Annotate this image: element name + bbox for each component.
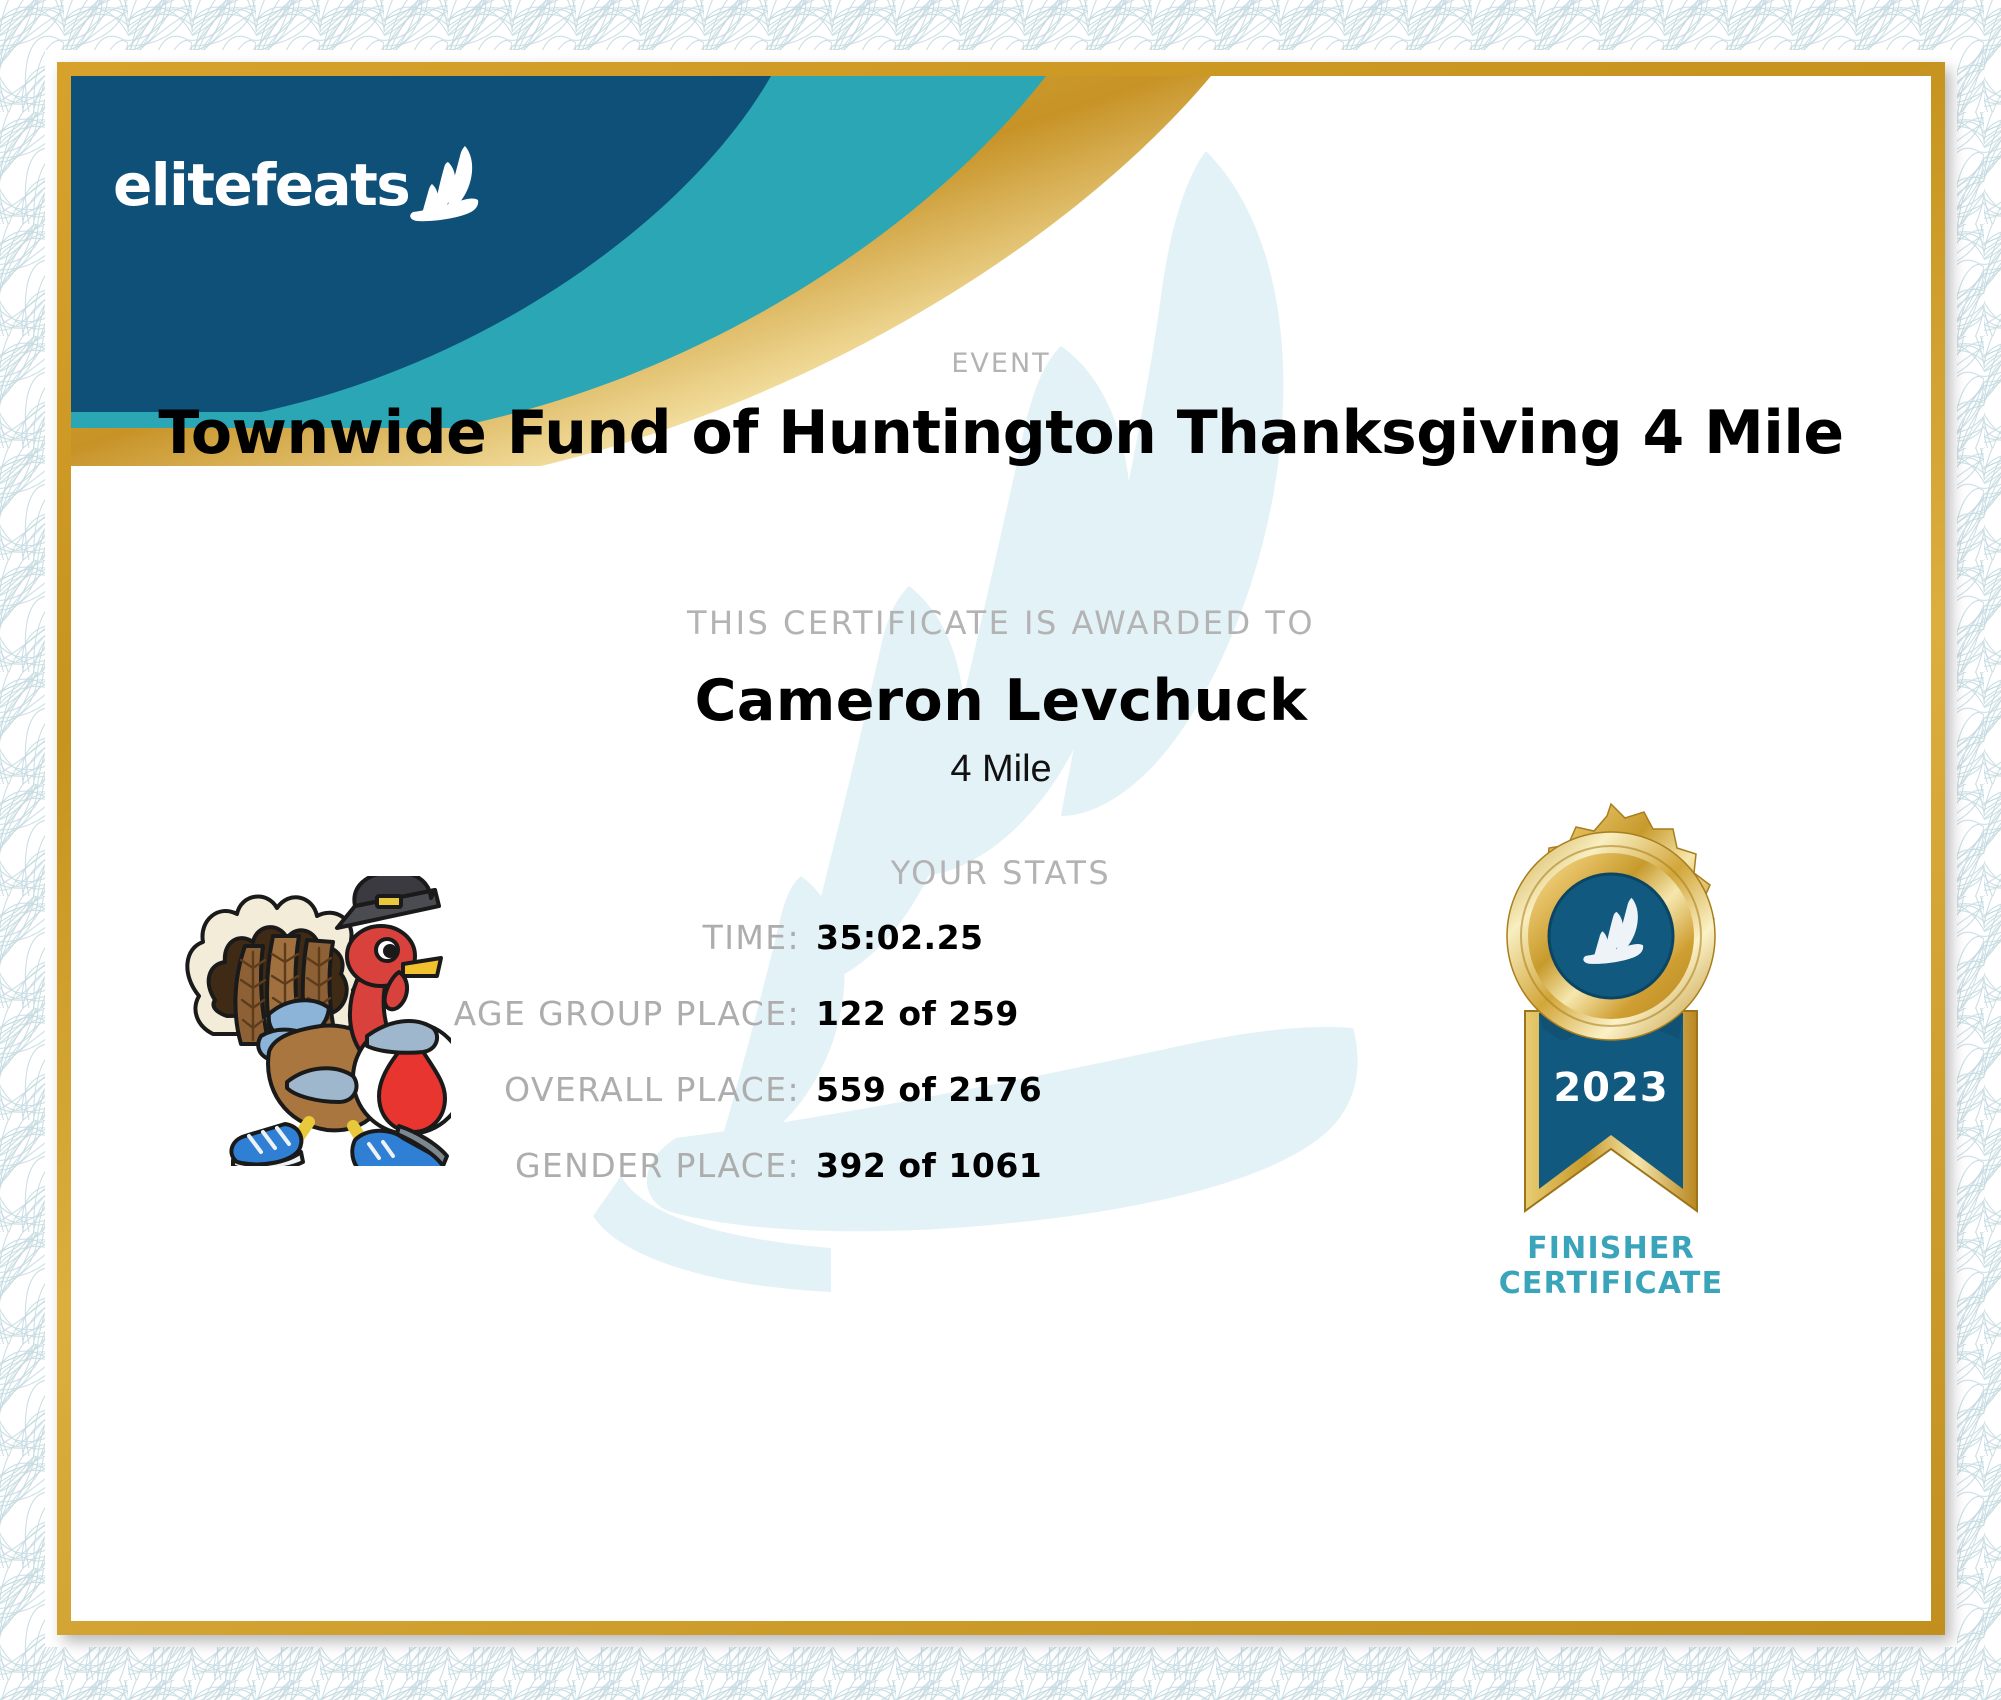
event-label: EVENT bbox=[71, 348, 1931, 379]
badge-caption-line-2: CERTIFICATE bbox=[1431, 1266, 1791, 1301]
stat-label: OVERALL PLACE: bbox=[431, 1070, 800, 1109]
event-title: Townwide Fund of Huntington Thanksgiving… bbox=[71, 398, 1931, 468]
stat-value: 392 of 1061 bbox=[800, 1146, 1051, 1185]
stat-label: AGE GROUP PLACE: bbox=[431, 994, 800, 1033]
stat-row-overall-place: OVERALL PLACE: 559 of 2176 bbox=[431, 1070, 1051, 1146]
stat-row-time: TIME: 35:02.25 bbox=[431, 918, 1051, 994]
awarded-to-label: THIS CERTIFICATE IS AWARDED TO bbox=[71, 604, 1931, 642]
badge-caption: FINISHER CERTIFICATE bbox=[1431, 1231, 1791, 1302]
stat-row-gender-place: GENDER PLACE: 392 of 1061 bbox=[431, 1146, 1051, 1222]
stat-value: 559 of 2176 bbox=[800, 1070, 1051, 1109]
participant-division: 4 Mile bbox=[71, 748, 1931, 791]
stat-value: 35:02.25 bbox=[800, 918, 1051, 957]
stat-row-age-group-place: AGE GROUP PLACE: 122 of 259 bbox=[431, 994, 1051, 1070]
running-turkey-mascot-icon bbox=[141, 876, 451, 1166]
stats-list: TIME: 35:02.25 AGE GROUP PLACE: 122 of 2… bbox=[431, 918, 1051, 1222]
badge-caption-line-1: FINISHER bbox=[1431, 1231, 1791, 1266]
finisher-medal-badge-icon: 2023 bbox=[1461, 801, 1761, 1281]
stat-label: TIME: bbox=[431, 918, 800, 957]
stat-value: 122 of 259 bbox=[800, 994, 1051, 1033]
certificate-gold-frame: elitefeats EVENT Townwide Fund of Huntin… bbox=[57, 62, 1945, 1635]
certificate-body: EVENT Townwide Fund of Huntington Thanks… bbox=[71, 76, 1931, 1621]
stat-label: GENDER PLACE: bbox=[431, 1146, 800, 1185]
certificate-paper: elitefeats EVENT Townwide Fund of Huntin… bbox=[71, 76, 1931, 1621]
participant-name: Cameron Levchuck bbox=[71, 668, 1931, 734]
badge-year: 2023 bbox=[1553, 1065, 1668, 1111]
